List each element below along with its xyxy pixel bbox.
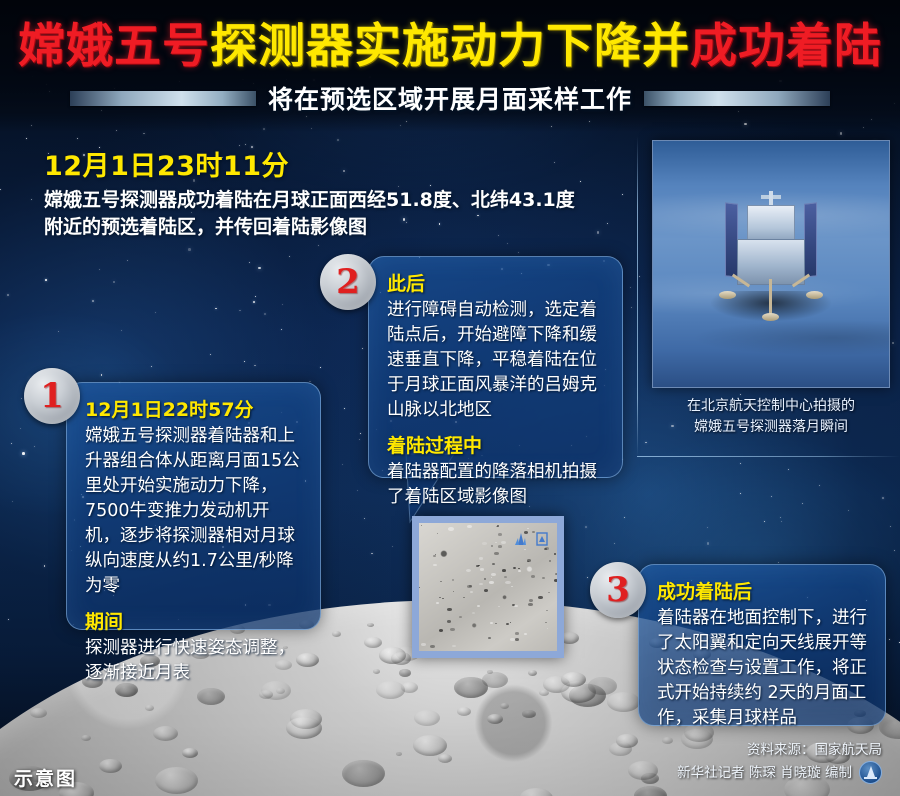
surface-speckle [549,560,551,562]
moon-crater [413,735,447,756]
surface-speckle [555,573,557,575]
surface-speckle [548,592,550,593]
moon-crater [11,668,23,675]
surface-speckle [554,579,557,582]
moon-crater [519,788,553,796]
step-badge-3: 3 [590,562,646,618]
surface-speckle [488,637,491,639]
step-3-body-1: 着陆器在地面控制下，进行了太阳翼和定向天线展开等状态检查与设置工作，将正式开始持… [657,606,869,731]
surface-speckle [440,581,442,582]
moon-crater [41,641,52,648]
surface-speckle [554,553,556,555]
surface-highlight [491,573,496,576]
moon-crater [892,650,900,655]
moon-crater [487,670,493,674]
surface-speckle [515,638,519,641]
moon-crater [332,631,341,637]
horizontal-divider [637,456,900,457]
subtitle-bar-right [644,91,830,106]
title-segment-red-2: 成功着陆 [690,19,882,74]
moon-crater [454,677,488,698]
title-segment-yellow: 探测器实施动力下降并 [210,19,690,74]
moon-crater [182,748,198,758]
lander-photo-caption: 在北京航天控制中心拍摄的 嫦娥五号探测器落月瞬间 [652,396,890,438]
page-subtitle: 将在预选区域开展月面采样工作 [268,80,632,116]
surface-highlight [518,570,521,572]
surface-speckle [421,525,422,526]
surface-speckle [442,598,444,599]
footer-credit: 新华社记者 陈琛 肖晓璇 编制 [677,762,852,784]
moon-crater [99,759,122,773]
step-badge-2: 2 [320,254,376,310]
step-3-heading-1: 成功着陆后 [657,579,869,605]
moon-crater [81,735,91,741]
surface-highlight [467,525,472,528]
footer-source: 资料来源：国家航天局 [677,739,882,761]
subtitle-bar-left [70,91,256,106]
surface-speckle [498,533,502,536]
moon-crater [539,690,549,696]
surface-highlight [505,581,511,584]
step-panel-3[interactable]: 成功着陆后 着陆器在地面控制下，进行了太阳翼和定向天线展开等状态检查与设置工作，… [638,564,886,726]
surface-speckle [463,597,465,598]
moon-crater [286,717,322,739]
moon-crater [15,650,37,663]
surface-speckle [484,578,486,580]
surface-highlight [495,542,497,543]
moon-crater [155,767,198,794]
surface-highlight [421,643,426,646]
moon-crater [634,786,667,796]
moon-crater [364,637,382,648]
surface-speckle [459,616,462,618]
vertical-divider [637,136,638,456]
surface-speckle [545,622,547,623]
step-1-body-2: 探测器进行快速姿态调整，逐渐接近月表 [85,636,304,686]
surface-speckle [538,596,543,599]
surface-speckle [546,610,548,611]
lander-spacecraft-illustration [705,187,837,337]
surface-highlight [470,591,473,593]
step-1-content: 12月1日22时57分 嫦娥五号探测器着陆器和上升器组合体从距离月面15公里处开… [67,383,320,701]
intro-text-line-2: 附近的预选着陆区，并传回着陆影像图 [44,214,634,241]
infographic-poster: 示意图 嫦娥五号探测器实施动力下降并成功着陆 将在预选区域开展月面采样工作 12… [0,0,900,796]
poster-header: 嫦娥五号探测器实施动力下降并成功着陆 将在预选区域开展月面采样工作 [0,0,900,116]
footer: 资料来源：国家航天局 新华社记者 陈琛 肖晓璇 编制 [677,739,882,784]
surface-speckle [447,620,451,623]
caption-line-2: 嫦娥五号探测器落月瞬间 [652,417,890,438]
step-badge-1-number: 1 [40,379,64,413]
page-title: 嫦娥五号探测器实施动力下降并成功着陆 [0,0,900,76]
surface-speckle [430,645,435,648]
step-2-body-1: 进行障碍自动检测，选定着陆点后，开始避障下降和缓速垂直下降，平稳着陆在位于月球正… [387,298,606,423]
surface-speckle [531,575,535,578]
moon-crater [438,754,452,763]
step-panel-1[interactable]: 12月1日22时57分 嫦娥五号探测器着陆器和上升器组合体从距离月面15公里处开… [66,382,321,630]
moon-crater [396,752,402,756]
surface-highlight [510,638,515,641]
surface-highlight [547,628,548,629]
step-1-heading-1: 12月1日22时57分 [85,397,304,423]
step-3-content: 成功着陆后 着陆器在地面控制下，进行了太阳翼和定向天线展开等状态检查与设置工作，… [639,565,885,746]
surface-speckle [452,579,454,581]
moon-crater [53,661,59,665]
moon-crater [522,710,536,718]
surface-speckle [419,587,420,588]
subtitle-row: 将在预选区域开展月面采样工作 [0,80,900,116]
surface-speckle [439,597,441,598]
moon-crater [399,669,411,677]
surface-highlight [511,586,513,587]
moon-crater [24,625,38,633]
surface-highlight [501,541,506,544]
photo-watermark-icon [511,529,551,549]
moon-crater [401,682,418,693]
landing-pad-3 [762,313,779,321]
surface-speckle [513,567,516,569]
surface-highlight [490,622,493,624]
surface-speckle [453,591,454,592]
step-badge-1: 1 [24,368,80,424]
surface-highlight [479,583,483,585]
lander-photo [652,140,890,388]
surface-highlight [466,569,471,572]
surface-highlight [514,605,518,607]
surface-highlight [479,557,483,560]
moon-crater [588,677,617,695]
surface-speckle [433,555,436,557]
moon-crater [616,734,638,748]
intro-text-line-1: 嫦娥五号探测器成功着陆在月球正面西经51.8度、北纬43.1度 [44,187,634,214]
surface-speckle [447,608,452,611]
surface-speckle [491,545,493,547]
surface-speckle [518,568,520,569]
surface-speckle [529,599,533,602]
moon-crater [367,623,374,627]
step-panel-2[interactable]: 此后 进行障碍自动检测，选定着陆点后，开始避障下降和缓速垂直下降，平稳着陆在位于… [368,256,623,478]
step-1-body-1: 嫦娥五号探测器着陆器和上升器组合体从距离月面15公里处开始实施动力下降，7500… [85,424,304,599]
surface-highlight [524,549,526,550]
step-1-heading-2: 期间 [85,609,304,635]
surface-speckle [435,554,436,555]
moon-crater [342,760,385,787]
surface-speckle [497,525,499,527]
moon-crater [30,708,47,718]
surface-highlight [498,606,500,607]
moon-crater [376,681,405,699]
step-2-content: 此后 进行障碍自动检测，选定着陆点后，开始避障下降和缓速垂直下降，平稳着陆在位于… [369,257,622,525]
surface-highlight [452,645,456,647]
moon-crater [145,705,154,711]
surface-speckle [484,589,488,592]
step-1-spacer [85,599,304,609]
surface-speckle [504,576,507,578]
step-2-body-2: 着陆器配置的降落相机拍摄了着陆区域影像图 [387,460,606,510]
surface-speckle [492,563,495,565]
xinhua-logo-icon [859,761,882,784]
surface-highlight [436,602,439,604]
surface-highlight [448,527,454,531]
solar-panel-right [804,202,817,278]
lunar-surface-image [419,523,557,651]
surface-speckle [502,569,506,572]
moon-crater [500,703,509,709]
step-2-heading-1: 此后 [387,271,606,297]
surface-speckle [437,533,438,534]
surface-speckle [506,623,509,625]
landing-leg-3 [769,279,772,315]
ascender-module [747,205,795,241]
step-badge-2-number: 2 [336,265,360,299]
surface-highlight [472,612,475,614]
surface-highlight [491,577,492,578]
landing-pad-2 [806,291,823,299]
step-2-spacer [387,423,606,433]
title-segment-red-1: 嫦娥五号 [18,19,210,74]
moon-crater [487,714,503,724]
caption-line-1: 在北京航天控制中心拍摄的 [652,396,890,417]
surface-highlight [489,581,494,584]
surface-speckle [450,628,455,631]
surface-highlight [433,564,437,566]
surface-speckle [495,623,497,624]
surface-highlight [477,605,480,607]
intro-block: 12月1日23时11分 嫦娥五号探测器成功着陆在月球正面西经51.8度、北纬43… [44,144,634,241]
surface-speckle [498,545,502,548]
moon-crater [528,670,537,676]
moon-crater [153,726,178,741]
moon-crater [414,710,440,726]
moon-crater [391,652,411,665]
surface-speckle [439,629,443,632]
surface-speckle [494,552,499,555]
moon-crater [607,692,640,712]
schematic-label: 示意图 [14,764,77,791]
moon-crater [457,707,471,716]
footer-credit-row: 新华社记者 陈琛 肖晓璇 编制 [677,761,882,784]
moon-crater [561,672,586,687]
surface-speckle [542,577,545,579]
moon-crater [373,669,380,674]
surface-highlight [482,542,487,545]
moon-crater [628,761,658,780]
intro-timestamp: 12月1日23时11分 [44,144,634,183]
surface-speckle [528,603,533,606]
landing-area-photo [412,516,564,658]
step-badge-3-number: 3 [606,573,630,607]
surface-speckle [510,622,511,623]
surface-speckle [478,565,480,566]
landing-pad-1 [719,291,736,299]
surface-highlight [524,633,527,635]
surface-highlight [480,568,484,571]
step-2-heading-2: 着陆过程中 [387,433,606,459]
surface-speckle [515,632,519,635]
